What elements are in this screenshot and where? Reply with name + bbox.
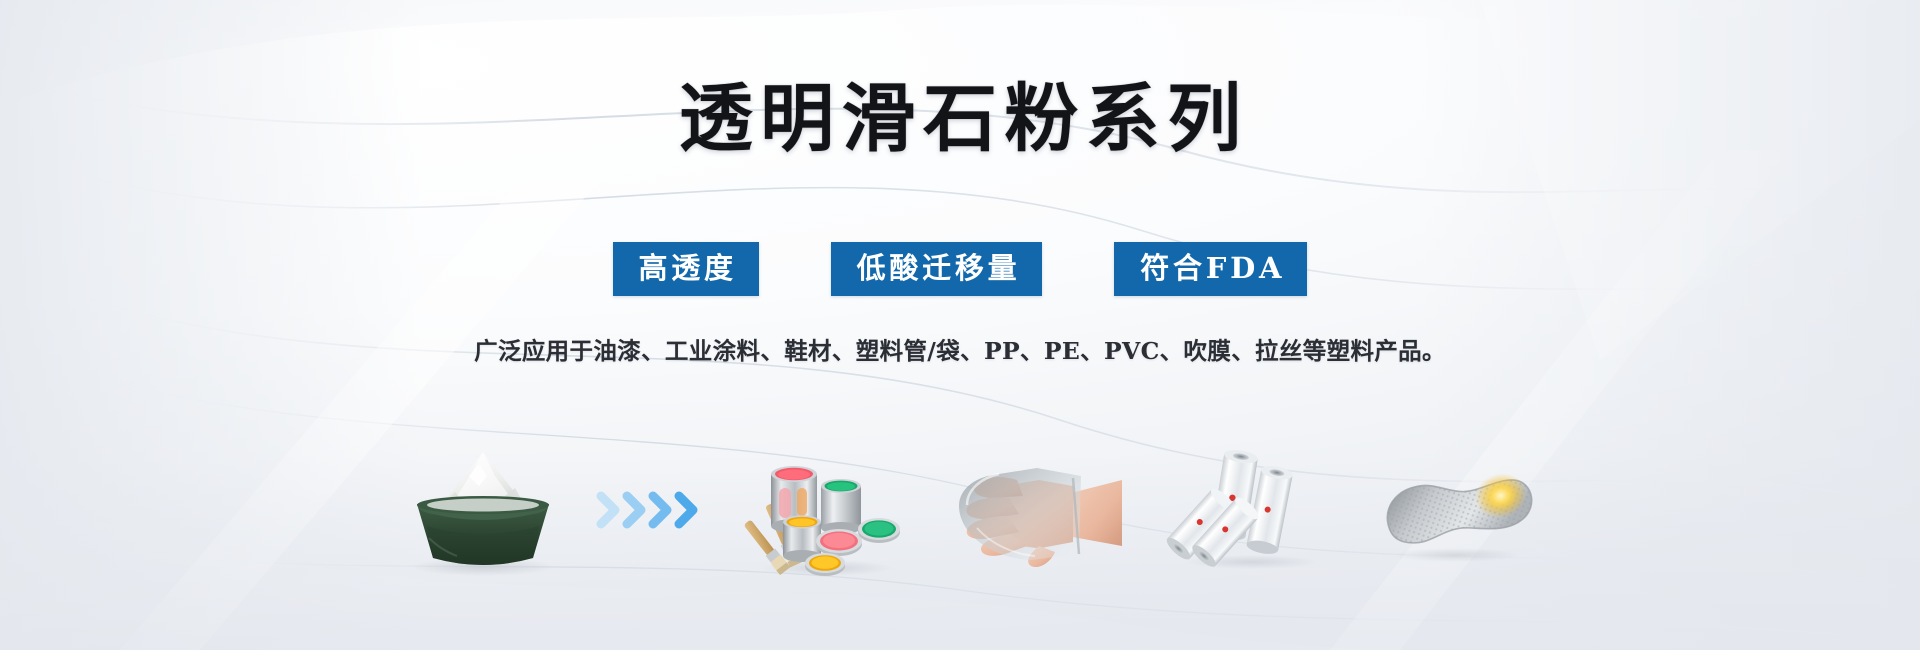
feature-badge-high-transparency[interactable]: 高透度 [613, 242, 759, 296]
product-image-paint-cans [725, 440, 903, 580]
product-image-gloved-hand [903, 440, 1122, 580]
product-image-arrow-chevrons [583, 440, 725, 580]
product-image-plastic-film-rolls [1122, 440, 1332, 580]
product-banner: 透明滑石粉系列 高透度 低酸迁移量 符合FDA 广泛应用于油漆、工业涂料、鞋材、… [0, 0, 1920, 650]
paint-cans-icon [743, 444, 903, 576]
product-image-shoe-sole [1332, 440, 1537, 580]
page-title: 透明滑石粉系列 [671, 82, 1248, 156]
feature-badge-low-acid-migration[interactable]: 低酸迁移量 [831, 242, 1043, 296]
shoe-sole-icon [1372, 455, 1537, 565]
feature-badge-fda-compliant[interactable]: 符合FDA [1114, 242, 1307, 296]
application-description: 广泛应用于油漆、工业涂料、鞋材、塑料管/袋、PP、PE、PVC、吹膜、拉丝等塑料… [474, 332, 1446, 366]
product-image-talc-powder-bowl [383, 440, 583, 580]
feature-badge-list: 高透度 低酸迁移量 符合FDA [613, 242, 1308, 296]
product-image-strip [0, 440, 1920, 580]
chevron-right-arrows-icon [595, 485, 713, 535]
plastic-film-rolls-icon [1162, 450, 1332, 570]
gloved-hand-icon [947, 450, 1122, 570]
talc-powder-bowl-icon [383, 446, 583, 574]
